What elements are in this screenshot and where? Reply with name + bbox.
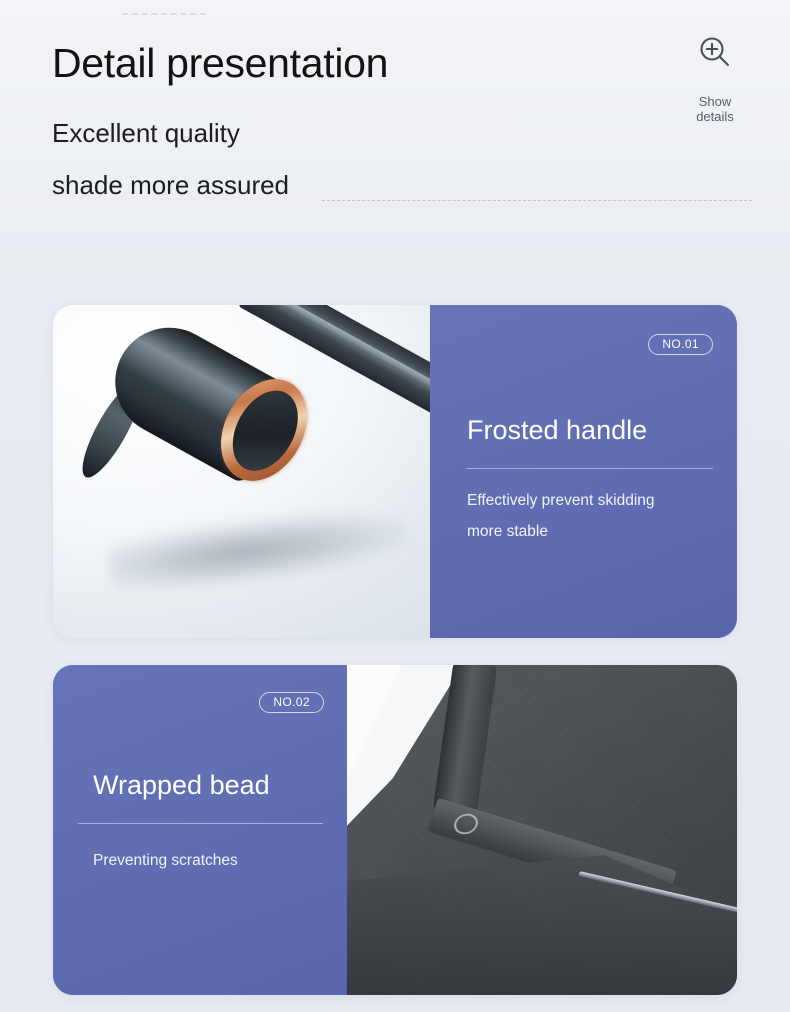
subtitle-line-1: Excellent quality bbox=[52, 118, 240, 149]
show-details-label-line-1: Show bbox=[696, 94, 734, 109]
header: Detail presentation Excellent quality sh… bbox=[0, 0, 790, 300]
card-2-description-line-1: Preventing scratches bbox=[93, 845, 238, 876]
card-1-info-panel: NO.01 Frosted handle Effectively prevent… bbox=[430, 305, 737, 638]
card-2-title: Wrapped bead bbox=[93, 770, 270, 801]
card-1-description-line-2: more stable bbox=[467, 516, 655, 547]
show-details-label-line-2: details bbox=[696, 109, 734, 124]
header-divider bbox=[322, 200, 752, 201]
wrapped-bead-photo bbox=[347, 665, 737, 995]
magnifier-plus-icon bbox=[695, 32, 735, 72]
card-2-description: Preventing scratches bbox=[93, 845, 238, 876]
card-2-number-badge: NO.02 bbox=[259, 692, 324, 713]
card-1-title: Frosted handle bbox=[467, 415, 647, 446]
card-1-number-badge: NO.01 bbox=[648, 334, 713, 355]
card-1-divider bbox=[466, 468, 713, 469]
card-1-description: Effectively prevent skidding more stable bbox=[467, 485, 655, 547]
feature-card-frosted-handle[interactable]: NO.01 Frosted handle Effectively prevent… bbox=[53, 305, 737, 638]
show-details-label: Show details bbox=[696, 94, 734, 124]
card-2-divider bbox=[78, 823, 323, 824]
page-title: Detail presentation bbox=[52, 40, 388, 87]
show-details-button[interactable]: Show details bbox=[676, 32, 754, 124]
frosted-handle-photo bbox=[53, 305, 430, 638]
subtitle-line-2: shade more assured bbox=[52, 170, 289, 201]
feature-card-wrapped-bead[interactable]: NO.02 Wrapped bead Preventing scratches bbox=[53, 665, 737, 995]
card-1-description-line-1: Effectively prevent skidding bbox=[467, 485, 655, 516]
card-2-info-panel: NO.02 Wrapped bead Preventing scratches bbox=[53, 665, 347, 995]
